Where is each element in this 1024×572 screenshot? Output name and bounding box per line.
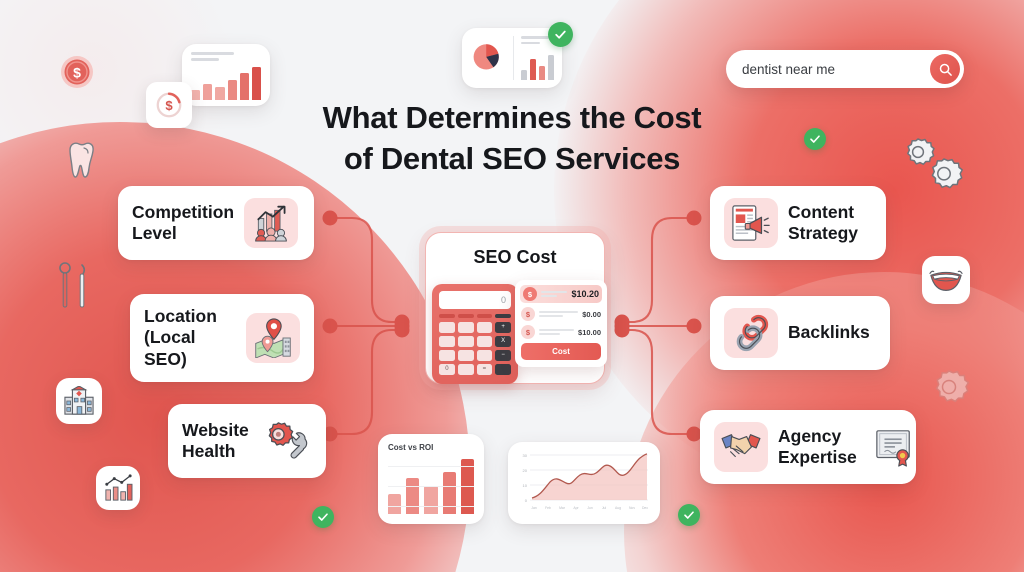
svg-text:Jan: Jan xyxy=(531,506,537,510)
svg-text:0: 0 xyxy=(525,498,528,503)
factor-card-location-local-seo[interactable]: Location (Local SEO) xyxy=(130,294,314,382)
factor-card-competition-level[interactable]: Competition Level xyxy=(118,186,314,260)
bar xyxy=(443,472,456,514)
search-input[interactable]: dentist near me xyxy=(742,62,835,77)
svg-text:$: $ xyxy=(73,65,81,81)
cost-button[interactable]: Cost xyxy=(521,343,601,360)
growth-chart-people-icon-glyph xyxy=(251,204,291,242)
check-badge-bottom-center xyxy=(678,504,700,526)
infographic-canvas: What Determines the Cost of Dental SEO S… xyxy=(0,0,1024,572)
factor-label: Content Strategy xyxy=(788,202,858,245)
dollar-coin-icon: $ xyxy=(60,55,94,94)
bar xyxy=(424,486,437,514)
factor-label: Agency Expertise xyxy=(778,426,857,469)
growth-chart-people-icon xyxy=(244,198,298,248)
dental-tools-icon-glyph xyxy=(56,262,92,310)
certificate-award-icon-glyph xyxy=(873,427,915,467)
chain-link-icon-glyph xyxy=(731,314,771,352)
check-icon xyxy=(809,133,821,145)
factor-card-website-health[interactable]: Website Health xyxy=(168,404,326,478)
title-line-1: What Determines the Cost xyxy=(0,98,1024,139)
factor-card-backlinks[interactable]: Backlinks xyxy=(710,296,890,370)
factor-label: Location (Local SEO) xyxy=(144,306,236,370)
calculator-widget[interactable]: 0 + X − 0= xyxy=(432,284,518,384)
svg-text:Nov: Nov xyxy=(629,506,635,510)
gear-icon-glyph xyxy=(928,368,970,410)
cost-vs-roi-chart-card: Cost vs ROI xyxy=(378,434,484,524)
chain-link-icon xyxy=(724,308,778,358)
center-card-title: SEO Cost xyxy=(426,247,604,268)
check-badge-bottom-left xyxy=(312,506,334,528)
bar xyxy=(388,494,401,514)
price-amount: $10.00 xyxy=(578,328,601,337)
svg-text:20: 20 xyxy=(523,468,528,473)
area-chart-svg: 3020 100 JanFebMar AprJunJul AugNovDec xyxy=(516,449,652,517)
price-amount: $10.20 xyxy=(571,289,599,299)
title-line-2: of Dental SEO Services xyxy=(0,139,1024,180)
bar xyxy=(406,478,419,514)
check-icon xyxy=(683,509,695,521)
handshake-icon xyxy=(714,422,768,472)
certificate-award-icon xyxy=(867,422,921,472)
dollar-icon: $ xyxy=(521,307,535,321)
megaphone-document-icon xyxy=(724,198,778,248)
svg-text:Jun: Jun xyxy=(587,506,593,510)
calculator-function-row xyxy=(439,314,511,318)
dental-tools-icon xyxy=(56,262,92,315)
svg-text:Dec: Dec xyxy=(642,506,648,510)
megaphone-document-icon-glyph xyxy=(730,203,772,243)
gear-icon xyxy=(928,368,970,415)
svg-text:Feb: Feb xyxy=(545,506,551,510)
price-amount: $0.00 xyxy=(582,310,601,319)
search-button[interactable] xyxy=(930,54,960,84)
calculator-keypad[interactable]: + X − 0= xyxy=(439,322,511,375)
svg-text:Mar: Mar xyxy=(559,506,566,510)
map-pin-location-icon xyxy=(246,313,300,363)
dollar-coin-icon-glyph: $ xyxy=(60,55,94,89)
svg-text:Apr: Apr xyxy=(573,506,579,510)
price-row: $ $0.00 xyxy=(521,307,601,321)
price-row: $ $10.00 xyxy=(521,325,601,339)
dollar-icon: $ xyxy=(521,325,535,339)
placeholder-lines xyxy=(541,291,567,297)
search-bar[interactable]: dentist near me xyxy=(726,50,964,88)
factor-label: Website Health xyxy=(182,420,249,463)
chart-title: Cost vs ROI xyxy=(388,443,474,452)
svg-text:30: 30 xyxy=(523,453,528,458)
dollar-icon: $ xyxy=(523,287,537,301)
factor-label: Competition Level xyxy=(132,202,234,245)
check-badge-top-center xyxy=(548,22,573,47)
check-badge-top-right xyxy=(804,128,826,150)
calculator-display: 0 xyxy=(439,291,511,309)
placeholder-lines xyxy=(539,329,574,335)
map-pin-location-icon-glyph xyxy=(252,318,294,358)
factor-card-content-strategy[interactable]: Content Strategy xyxy=(710,186,886,260)
svg-text:Aug: Aug xyxy=(615,506,621,510)
gear-wrench-icon xyxy=(259,416,313,466)
search-icon xyxy=(938,62,953,77)
svg-text:10: 10 xyxy=(523,483,528,488)
factor-card-agency-expertise[interactable]: Agency Expertise xyxy=(700,410,916,484)
svg-text:Jul: Jul xyxy=(602,506,607,510)
page-title: What Determines the Cost of Dental SEO S… xyxy=(0,98,1024,180)
check-icon xyxy=(317,511,329,523)
trend-area-chart-card: 3020 100 JanFebMar AprJunJul AugNovDec xyxy=(508,442,660,524)
price-list-widget: $ $10.20 $ $0.00 $ $10.00 Cost xyxy=(515,280,607,367)
factor-label: Backlinks xyxy=(788,322,870,343)
handshake-icon-glyph xyxy=(720,429,762,465)
check-icon xyxy=(554,28,567,41)
price-row: $ $10.20 xyxy=(520,285,602,303)
placeholder-lines xyxy=(539,311,578,317)
gear-wrench-icon-glyph xyxy=(263,420,309,462)
